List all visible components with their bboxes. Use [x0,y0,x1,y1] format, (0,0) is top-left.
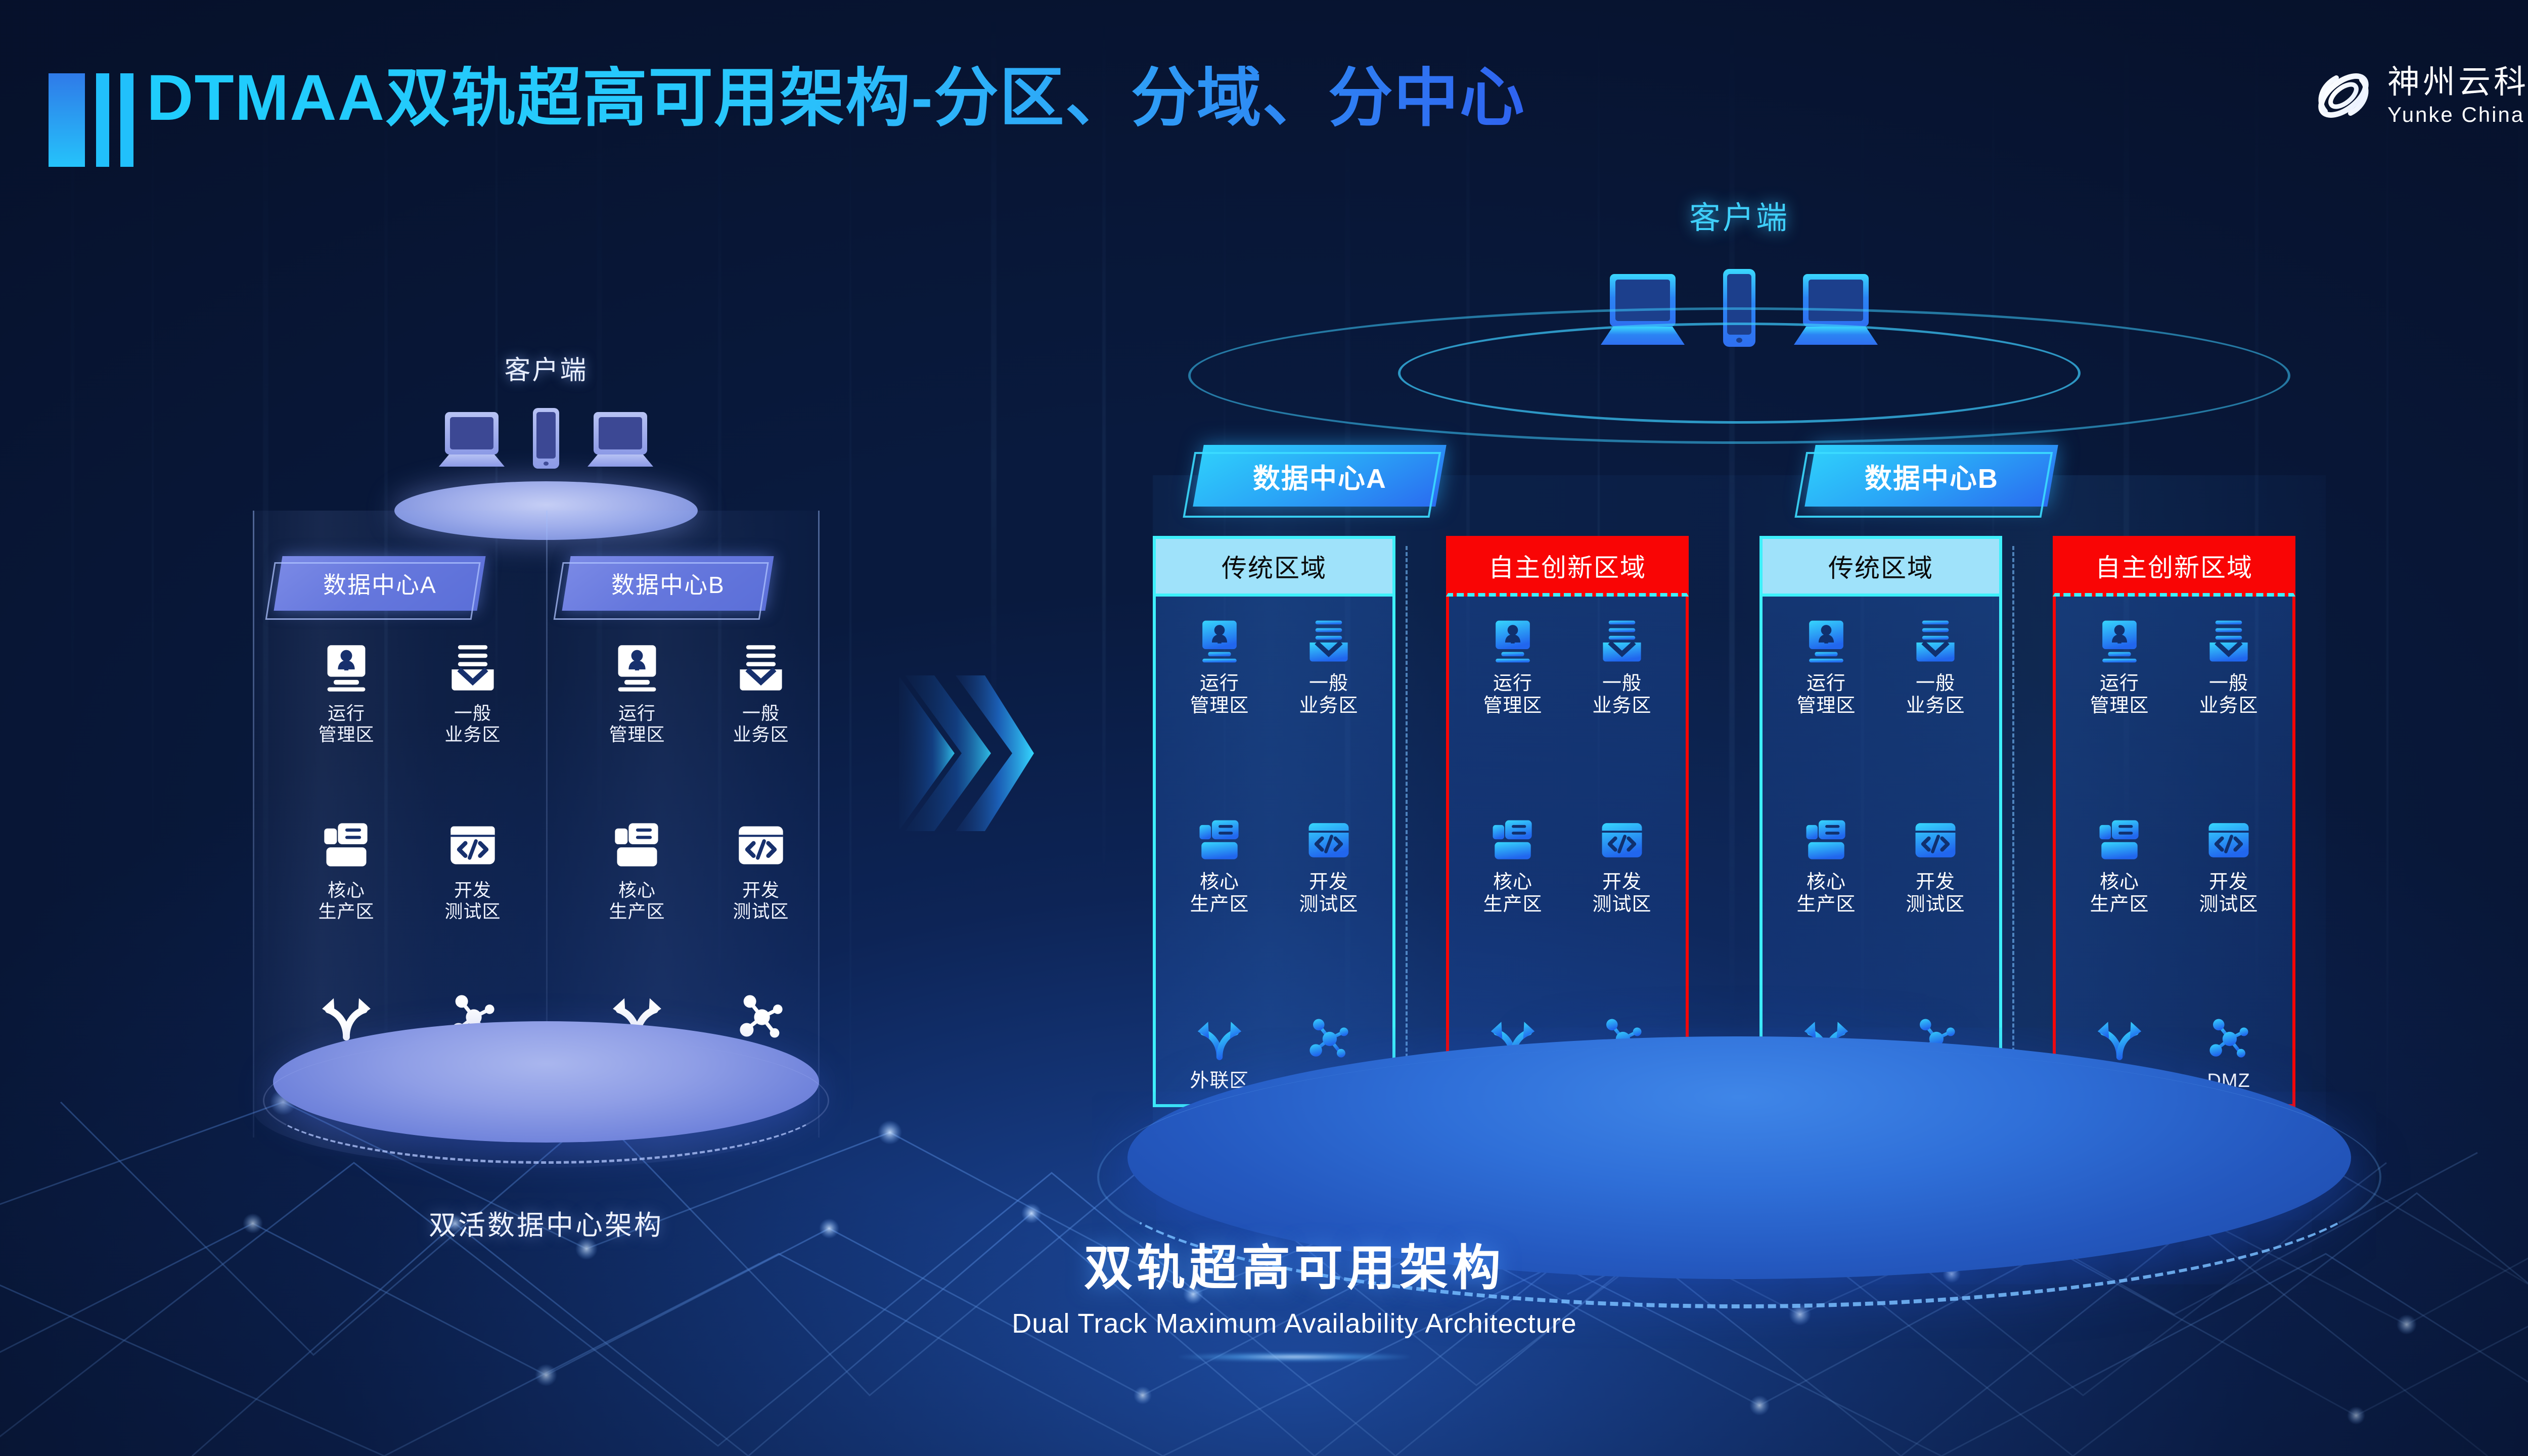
left-zone-label: 核心生产区 [318,880,374,923]
left-clients-label: 客户端 [202,349,890,387]
left-zone-label: 核心生产区 [609,880,665,923]
phone-icon [532,407,560,470]
logo-text-en: Yunke China [2387,104,2528,125]
network-nodes-icon [2205,1015,2252,1063]
zone-label: 运行管理区 [1796,672,1856,717]
zone-cell[interactable]: 开发测试区 [1567,816,1677,916]
zone-cell[interactable]: 运行管理区 [1458,618,1567,717]
zonebox-b-innovation-header: 自主创新区域 [2053,536,2295,597]
page-title: DTMAA双轨超高可用架构-分区、分域、分中心 [147,66,1525,130]
left-zone-label: 一般业务区 [444,703,501,746]
transition-arrow [895,672,1036,842]
code-window-icon [1912,816,1959,864]
server-rack-icon [2096,816,2143,864]
network-nodes-icon [735,991,787,1043]
code-window-icon [735,819,787,872]
left-architecture-panel: 客户端 数据中心A 数据中心B [202,349,890,1239]
footer-title-cn: 双轨超高可用架构 [0,1228,2528,1299]
branch-arrows-icon [1196,1015,1243,1063]
zone-label: 开发测试区 [1299,871,1358,916]
footer-title-block: 双轨超高可用架构 Dual Track Maximum Availability… [0,1228,2528,1361]
right-architecture-panel: 客户端 数据中心A 数据中心B 传统区域 [1052,192,2427,1355]
zonebox-b-traditional-header: 传统区域 [1759,536,2002,597]
inbox-tray-icon [446,642,499,695]
left-client-devices [434,407,658,470]
zone-cell[interactable]: 一般业务区 [2174,618,2283,717]
zone-label: 运行管理区 [1483,672,1542,717]
footer-glow [1178,1352,1411,1361]
laptop-icon [582,410,658,470]
zone-cell[interactable]: 一般业务区 [1881,618,1990,717]
zone-cell[interactable]: 核心生产区 [1458,816,1567,916]
zone-label: 一般业务区 [1299,672,1358,717]
zone-cell[interactable]: 一般业务区 [1274,618,1383,717]
zone-cell[interactable]: 运行管理区 [1165,618,1274,717]
code-window-icon [1598,816,1646,864]
logo-text-cn: 神州云科 [2387,66,2528,98]
user-monitor-icon [320,642,373,695]
zone-label: 核心生产区 [2090,871,2149,916]
brand-logo: 神州云科 Yunke China [2313,66,2528,125]
right-clients-label: 客户端 [1052,192,2427,238]
left-datacenter-banner-a[interactable]: 数据中心A [274,556,485,611]
zone-cell[interactable]: 开发测试区 [2174,816,2283,916]
zonebox-b-innovation[interactable]: 自主创新区域 运行管理区 [2053,536,2295,1107]
zone-cell[interactable]: 运行管理区 [1772,618,1881,717]
branch-arrows-icon [320,991,373,1043]
user-monitor-icon [611,642,663,695]
right-datacenter-banner-b[interactable]: 数据中心B [1804,445,2058,507]
left-platform-ring [263,1037,829,1164]
zonebox-b-traditional[interactable]: 传统区域 运行管理区 [1759,536,2002,1107]
user-monitor-icon [1196,618,1243,665]
zone-label: 一般业务区 [1592,672,1651,717]
zonebox-a-traditional[interactable]: 传统区域 运行管理区 [1153,536,1395,1107]
left-zone-label: 一般业务区 [733,703,789,746]
branch-arrows-icon [2096,1015,2143,1063]
laptop-icon [434,410,510,470]
zone-cell[interactable]: 核心生产区 [1772,816,1881,916]
server-rack-icon [320,819,373,872]
zone-label: 开发测试区 [1906,871,1965,916]
left-datacenter-banner-b[interactable]: 数据中心B [562,556,774,611]
zone-label: 开发测试区 [1592,871,1651,916]
right-datacenter-label-b: 数据中心B [1865,456,1999,496]
zone-label: 运行管理区 [2090,672,2149,717]
left-zone-label: 运行管理区 [609,703,665,746]
zone-label: 运行管理区 [1190,672,1249,717]
right-datacenter-banner-a[interactable]: 数据中心A [1193,445,1447,507]
zonebox-a-innovation-header: 自主创新区域 [1446,536,1689,597]
right-datacenter-label-a: 数据中心A [1253,456,1387,496]
double-chevron-right-icon [895,672,1036,839]
right-client-ring-outer [1188,307,2290,444]
inbox-tray-icon [2205,618,2252,665]
zone-label: 核心生产区 [1796,871,1856,916]
inbox-tray-icon [735,642,787,695]
left-zone-label: 运行管理区 [318,703,374,746]
zone-label: 一般业务区 [1906,672,1965,717]
footer-title-en: Dual Track Maximum Availability Architec… [0,1308,2528,1339]
inbox-tray-icon [1305,618,1352,665]
left-datacenter-label-b: 数据中心B [611,567,725,600]
zone-cell[interactable]: 外联区 [1165,1015,1274,1092]
title-accent-bars-icon [49,73,133,167]
zone-label: 核心生产区 [1483,871,1542,916]
zonebox-a-innovation[interactable]: 自主创新区域 运行管理区 [1446,536,1689,1107]
left-zone-label: 开发测试区 [444,880,501,923]
zonebox-a-traditional-header: 传统区域 [1153,536,1395,597]
page-header: DTMAA双轨超高可用架构-分区、分域、分中心 神州云科 Yunke China [0,0,2528,167]
code-window-icon [446,819,499,872]
left-zone-label: 开发测试区 [733,880,789,923]
zone-cell[interactable]: 一般业务区 [1567,618,1677,717]
zone-cell[interactable]: 核心生产区 [2065,816,2174,916]
network-nodes-icon [1305,1015,1352,1063]
user-monitor-icon [1802,618,1850,665]
zone-label: 开发测试区 [2199,871,2258,916]
code-window-icon [1305,816,1352,864]
left-datacenter-label-a: 数据中心A [323,567,437,600]
swirl-logo-icon [2313,68,2374,123]
zone-cell[interactable]: 开发测试区 [1274,816,1383,916]
zone-cell[interactable]: 运行管理区 [2065,618,2174,717]
zone-label: 一般业务区 [2199,672,2258,717]
server-rack-icon [1489,816,1537,864]
right-zone-divider-a [1406,546,1408,1082]
server-rack-icon [611,819,663,872]
user-monitor-icon [2096,618,2143,665]
zone-cell[interactable]: 核心生产区 [1165,816,1274,916]
server-rack-icon [1802,816,1850,864]
inbox-tray-icon [1598,618,1646,665]
user-monitor-icon [1489,618,1537,665]
zone-cell[interactable]: 开发测试区 [1881,816,1990,916]
code-window-icon [2205,816,2252,864]
right-zone-divider-b [2012,546,2014,1082]
server-rack-icon [1196,816,1243,864]
inbox-tray-icon [1912,618,1959,665]
zone-label: 核心生产区 [1190,871,1249,916]
